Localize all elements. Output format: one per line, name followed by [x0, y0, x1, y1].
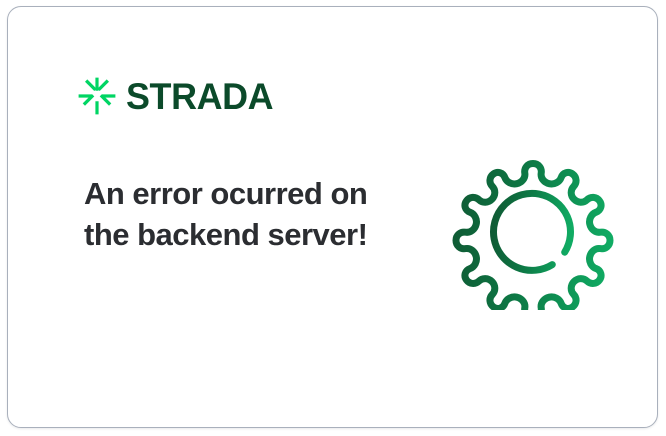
brand-lockup: STRADA	[77, 73, 278, 119]
brand-wordmark: STRADA	[126, 78, 273, 115]
gear-cog-icon	[452, 148, 614, 310]
error-page-screen: STRADA An error ocurred on the backend s…	[0, 0, 666, 436]
strada-asterisk-icon	[77, 76, 117, 116]
error-message-text: An error ocurred on the backend server!	[84, 173, 374, 255]
error-card: STRADA An error ocurred on the backend s…	[7, 6, 658, 428]
